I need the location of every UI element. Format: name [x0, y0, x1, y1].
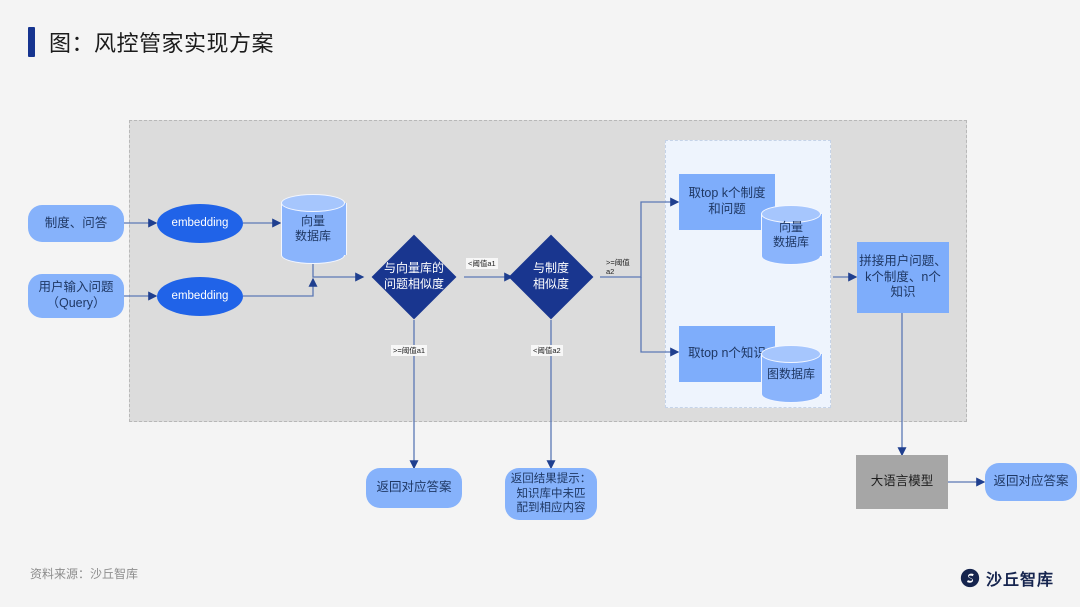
source-note: 资料来源：沙丘智库 [30, 565, 138, 582]
node-vector-database-label: 向量 数据库 [281, 194, 345, 264]
edge-label-policy-down: <阈值a2 [531, 345, 563, 356]
diagram-canvas: 制度、问答 用户输入问题 （Query） embedding embedding… [0, 0, 1080, 607]
node-retrieve-topk-label: 取top k个制度 和问题 [688, 186, 765, 217]
node-decision-vector-similarity[interactable]: 与向量库的 问题相似度 [384, 247, 444, 307]
node-input-query-label: 用户输入问题 （Query） [38, 280, 113, 311]
node-answer-right[interactable]: 返回对应答案 [985, 463, 1077, 501]
node-embedding-bottom[interactable]: embedding [157, 277, 243, 316]
edge-label-vector-down: >=阈值a1 [391, 345, 427, 356]
node-vector-database-2[interactable]: 向量 数据库 [761, 205, 821, 265]
node-graph-database[interactable]: 图数据库 [761, 345, 821, 403]
brand-logo: 沙丘智库 [960, 566, 1054, 590]
node-concat-prompt-label: 拼接用户问题、 k个制度、n个 知识 [859, 254, 947, 301]
node-llm[interactable]: 大语言模型 [856, 455, 948, 509]
node-llm-label: 大语言模型 [871, 474, 934, 490]
node-answer-bottom-mid[interactable]: 返回结果提示： 知识库中未匹 配到相应内容 [505, 468, 597, 520]
node-vector-database-2-label: 向量 数据库 [761, 205, 821, 265]
node-answer-right-label: 返回对应答案 [993, 474, 1068, 490]
node-concat-prompt[interactable]: 拼接用户问题、 k个制度、n个 知识 [857, 242, 949, 313]
node-decision-policy-similarity[interactable]: 与制度 相似度 [521, 247, 581, 307]
node-embedding-top-label: embedding [172, 216, 229, 230]
node-embedding-bottom-label: embedding [172, 289, 229, 303]
node-decision-vector-similarity-label: 与向量库的 问题相似度 [358, 247, 470, 307]
node-input-docs[interactable]: 制度、问答 [28, 205, 124, 242]
node-input-docs-label: 制度、问答 [45, 216, 108, 232]
node-answer-bottom-left[interactable]: 返回对应答案 [366, 468, 462, 508]
node-retrieve-topn-label: 取top n个知识 [688, 346, 766, 362]
node-graph-database-label: 图数据库 [761, 345, 821, 403]
edge-label-policy-right: >=阈值 a2 [604, 257, 632, 277]
logo-mark-icon [960, 568, 980, 588]
node-vector-database[interactable]: 向量 数据库 [281, 194, 345, 264]
node-decision-policy-similarity-label: 与制度 相似度 [495, 247, 607, 307]
node-answer-bottom-left-label: 返回对应答案 [376, 480, 451, 496]
logo-text: 沙丘智库 [986, 566, 1054, 590]
node-input-query[interactable]: 用户输入问题 （Query） [28, 274, 124, 318]
edge-label-vector-to-policy: <阈值a1 [466, 258, 498, 269]
node-answer-bottom-mid-label: 返回结果提示： 知识库中未匹 配到相应内容 [511, 472, 592, 515]
node-embedding-top[interactable]: embedding [157, 204, 243, 243]
